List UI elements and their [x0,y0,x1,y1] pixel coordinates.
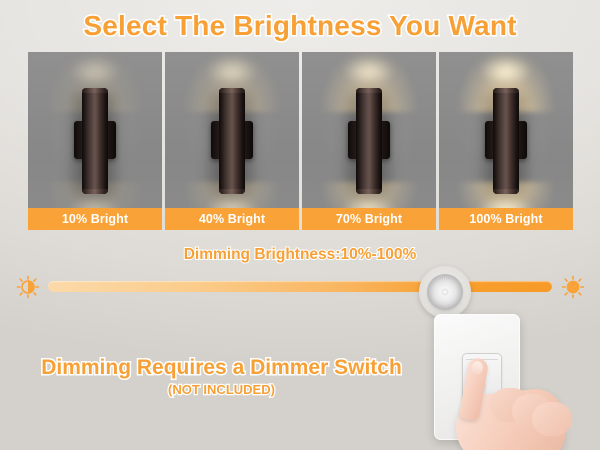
lamp-highlight [495,88,517,194]
brightness-panel-40[interactable]: 40% Bright [165,52,299,230]
top-lamp-glow [206,56,258,82]
low-brightness-sun-icon [16,275,40,299]
product-infographic: Select The Brightness You Want 10% Brigh… [0,0,600,450]
top-lamp-glow [343,56,395,82]
panel-caption: 40% Bright [165,208,299,230]
slider-knob[interactable] [429,276,461,308]
panel-caption: 100% Bright [439,208,573,230]
dimming-range-label: Dimming Brightness:10%-100% [0,246,600,264]
brightness-panel-row: 10% Bright 40% Bright [28,52,573,230]
wall-sconce-lamp [82,88,108,194]
dimmer-requirement-headline: Dimming Requires a Dimmer Switch [14,356,429,380]
top-lamp-glow [69,56,121,82]
fingernail [471,360,484,375]
panel-caption: 10% Bright [28,208,162,230]
wall-sconce-lamp [219,88,245,194]
top-lamp-glow [480,56,532,82]
brightness-panel-100[interactable]: 100% Bright [439,52,573,230]
brightness-panel-10[interactable]: 10% Bright [28,52,162,230]
lamp-highlight [84,88,106,194]
header: Select The Brightness You Want [0,4,600,48]
lamp-highlight [221,88,243,194]
page-title: Select The Brightness You Want [83,10,516,42]
wall-sconce-lamp [493,88,519,194]
hand-knuckle [532,402,572,436]
brightness-slider[interactable] [0,268,600,304]
slider-track[interactable] [48,281,552,292]
dimmer-not-included-note: (NOT INCLUDED) [14,382,429,397]
panel-caption: 70% Bright [302,208,436,230]
brightness-panel-70[interactable]: 70% Bright [302,52,436,230]
pointing-hand [446,358,596,450]
dimmer-switch-photo [424,306,600,450]
lamp-highlight [358,88,380,194]
wall-sconce-lamp [356,88,382,194]
full-brightness-sun-icon [561,275,585,299]
